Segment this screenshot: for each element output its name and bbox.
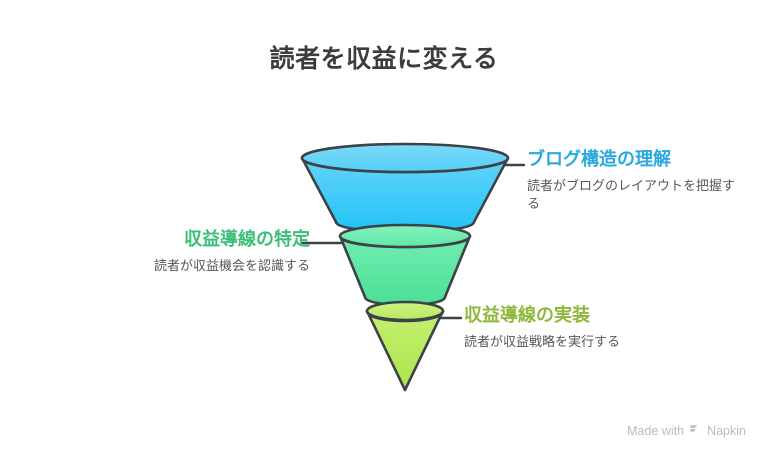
stage-label-2[interactable]: 収益導線の特定 読者が収益機会を認識する: [94, 228, 310, 275]
funnel-stage-2-rim: [340, 225, 470, 247]
stage-title-1: ブログ構造の理解: [527, 148, 743, 171]
napkin-chevrons-glyph: [689, 422, 702, 435]
stage-title-3: 収益導線の実装: [464, 304, 694, 327]
watermark-brand-label: Napkin: [707, 424, 746, 438]
watermark[interactable]: Made with Napkin: [627, 423, 746, 438]
funnel-stage-3-rim: [367, 302, 443, 320]
stage-description-2: 読者が収益機会を認識する: [94, 257, 310, 276]
stage-description-3: 読者が収益戦略を実行する: [464, 333, 694, 352]
stage-title-2: 収益導線の特定: [94, 228, 310, 251]
stage-label-3[interactable]: 収益導線の実装 読者が収益戦略を実行する: [464, 304, 694, 351]
funnel-stage-1[interactable]: [302, 144, 508, 232]
funnel-stage-1-rim: [302, 144, 508, 172]
stage-description-1: 読者がブログのレイアウトを把握する: [527, 177, 743, 215]
diagram-canvas: 読者を収益に変える: [0, 0, 768, 456]
funnel-stage-3-body: [367, 311, 443, 390]
funnel-stage-3[interactable]: [367, 302, 443, 390]
funnel-stage-2[interactable]: [340, 225, 470, 305]
napkin-chevrons-icon: [689, 422, 702, 437]
watermark-made-with-label: Made with: [627, 424, 684, 438]
stage-label-1[interactable]: ブログ構造の理解 読者がブログのレイアウトを把握する: [527, 148, 743, 214]
